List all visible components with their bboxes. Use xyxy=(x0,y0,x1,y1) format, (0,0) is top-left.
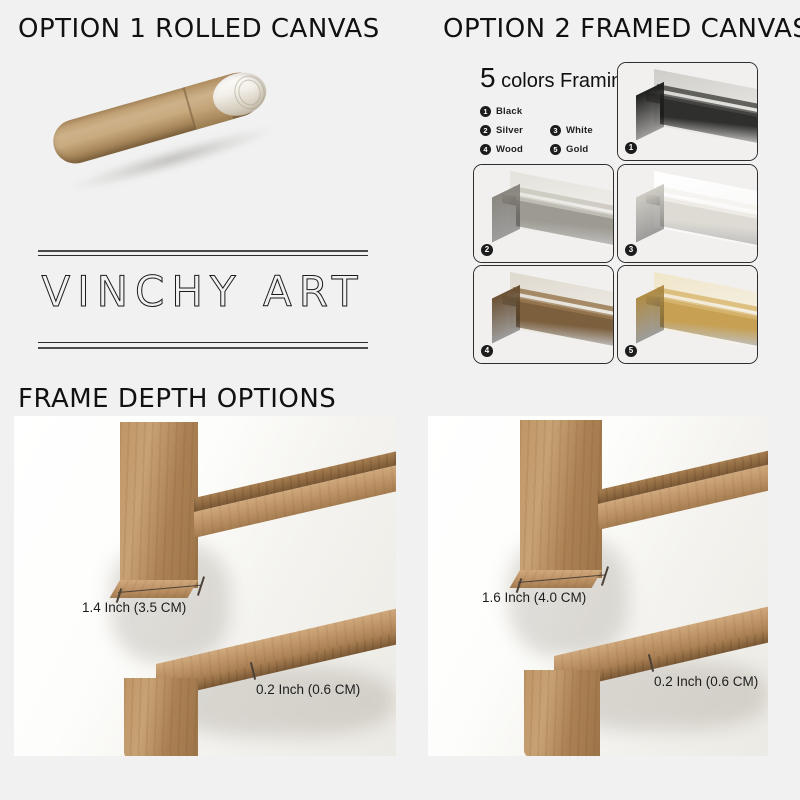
legend-item-black: 1 Black xyxy=(480,106,538,117)
section-heading-option-2: OPTION 2 FRAMED CANVAS xyxy=(443,14,800,44)
legend-badge-5: 5 xyxy=(550,144,561,155)
framing-legend-title: 5 colors Framing xyxy=(480,64,615,92)
swatch-badge-2: 2 xyxy=(481,244,493,256)
legend-row: 1 Black xyxy=(480,106,615,117)
frame-swatch-card-wood[interactable]: 4 xyxy=(473,265,614,364)
frame-vertical-member xyxy=(120,422,198,588)
rolled-canvas-tube-image xyxy=(44,62,294,190)
framing-colors-legend: 5 colors Framing 1 Black 2 Silver 3 Whit… xyxy=(480,64,615,163)
frame-lower-vertical-member xyxy=(524,670,600,756)
frame-depth-photo-left: 1.4 Inch (3.5 CM) 0.2 Inch (0.6 CM) xyxy=(14,416,396,756)
legend-label-3: White xyxy=(566,125,593,136)
brand-logo-text: VINCHY ART xyxy=(40,270,366,314)
frame-corner-photo xyxy=(618,165,757,262)
frame-corner-photo xyxy=(474,266,613,363)
brand-logo: VINCHY ART xyxy=(38,246,368,356)
logo-rule-bottom-inner xyxy=(38,342,368,343)
legend-item-silver: 2 Silver xyxy=(480,125,538,136)
section-heading-option-1: OPTION 1 ROLLED CANVAS xyxy=(18,14,380,44)
legend-badge-2: 2 xyxy=(480,125,491,136)
infographic-root: OPTION 1 ROLLED CANVAS VINCHY ART OPTION… xyxy=(0,0,800,800)
legend-label-5: Gold xyxy=(566,144,588,155)
frame-swatch-card-white[interactable]: 3 xyxy=(617,164,758,263)
frame-corner-photo xyxy=(618,63,757,160)
frame-vertical-member xyxy=(520,420,602,578)
swatch-badge-4: 4 xyxy=(481,345,493,357)
swatch-badge-1: 1 xyxy=(625,142,637,154)
frame-corner-photo xyxy=(474,165,613,262)
legend-label-4: Wood xyxy=(496,144,523,155)
swatch-badge-5: 5 xyxy=(625,345,637,357)
legend-label-2: Silver xyxy=(496,125,523,136)
frame-lower-vertical-member xyxy=(124,678,198,756)
legend-item-gold: 5 Gold xyxy=(550,144,608,155)
swatch-badge-3: 3 xyxy=(625,244,637,256)
logo-rule-bottom-outer xyxy=(38,347,368,349)
frame-swatch-card-black[interactable]: 1 xyxy=(617,62,758,161)
legend-badge-3: 3 xyxy=(550,125,561,136)
legend-badge-1: 1 xyxy=(480,106,491,117)
frame-depth-label-right: 1.6 Inch (4.0 CM) xyxy=(482,590,586,605)
legend-row: 2 Silver 3 White xyxy=(480,125,615,136)
frame-swatch-card-silver[interactable]: 2 xyxy=(473,164,614,263)
section-heading-frame-depth: FRAME DEPTH OPTIONS xyxy=(18,384,336,414)
frame-depth-label-left: 1.4 Inch (3.5 CM) xyxy=(82,600,186,615)
framing-title-rest: colors Framing xyxy=(496,70,634,92)
framing-legend-rows: 1 Black 2 Silver 3 White 4 Wood xyxy=(480,106,615,155)
frame-thickness-label-left: 0.2 Inch (0.6 CM) xyxy=(256,682,360,697)
logo-rule-top-outer xyxy=(38,250,368,252)
legend-item-wood: 4 Wood xyxy=(480,144,538,155)
legend-badge-4: 4 xyxy=(480,144,491,155)
legend-label-1: Black xyxy=(496,106,522,117)
legend-row: 4 Wood 5 Gold xyxy=(480,144,615,155)
frame-thickness-label-right: 0.2 Inch (0.6 CM) xyxy=(654,674,758,689)
frame-depth-photo-right: 1.6 Inch (4.0 CM) 0.2 Inch (0.6 CM) xyxy=(428,416,768,756)
legend-item-white: 3 White xyxy=(550,125,608,136)
frame-corner-photo xyxy=(618,266,757,363)
frame-swatch-card-gold[interactable]: 5 xyxy=(617,265,758,364)
logo-rule-top-inner xyxy=(38,255,368,256)
framing-count: 5 xyxy=(480,62,496,93)
